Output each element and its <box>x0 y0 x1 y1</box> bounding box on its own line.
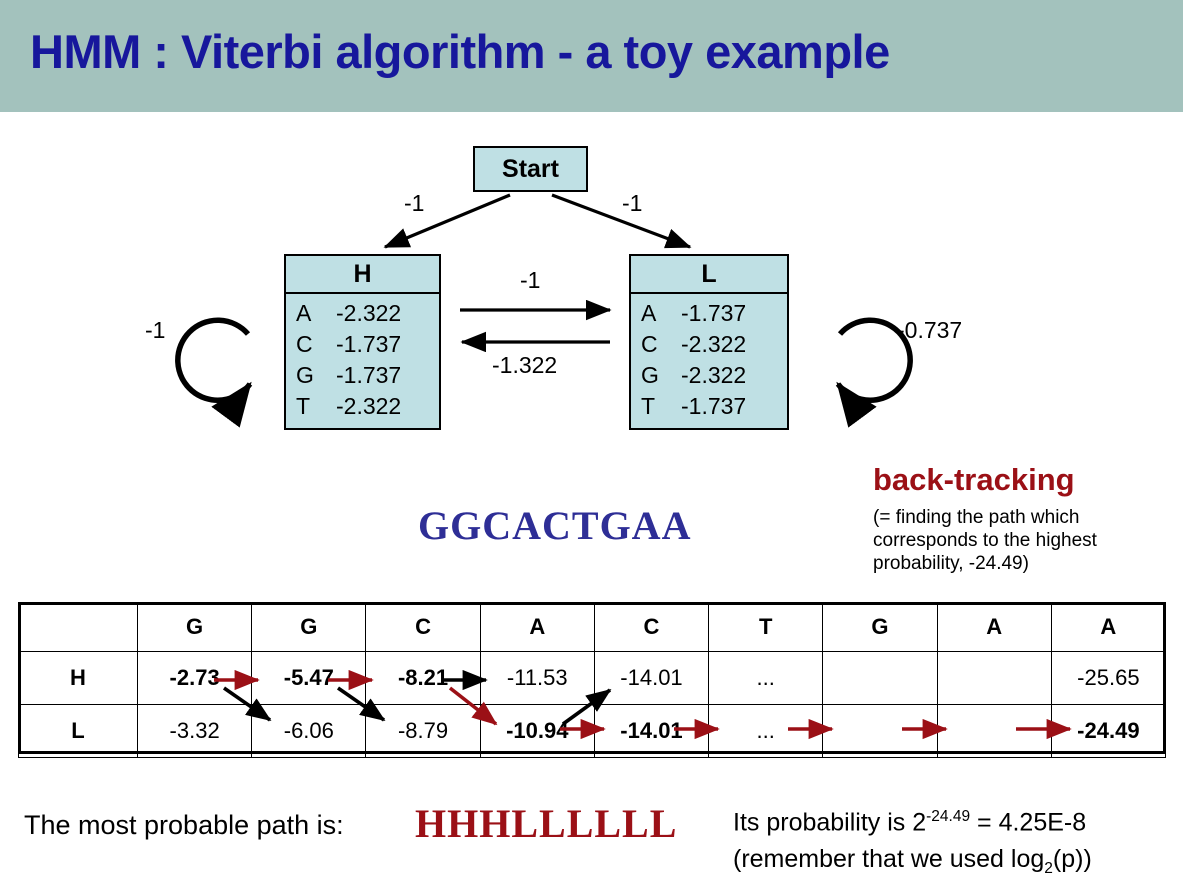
state-h-title: H <box>286 256 439 294</box>
header-banner: HMM : Viterbi algorithm - a toy example <box>0 0 1183 112</box>
column-header: C <box>366 603 480 652</box>
emission-row: G -2.322 <box>641 360 787 391</box>
emission-value: -1.737 <box>336 329 401 360</box>
cell-h-3: -8.21 <box>366 652 480 705</box>
emission-row: T -2.322 <box>296 391 439 422</box>
column-header: T <box>709 603 823 652</box>
emission-row: G -1.737 <box>296 360 439 391</box>
cell-h-4: -11.53 <box>480 652 594 705</box>
cell-h-8 <box>937 652 1051 705</box>
column-header: C <box>594 603 708 652</box>
cell-l-5: -14.01 <box>594 705 708 758</box>
most-probable-path-label: The most probable path is: <box>24 810 344 841</box>
column-header: A <box>480 603 594 652</box>
emission-symbol: G <box>641 360 681 391</box>
cell-l-4: -10.94 <box>480 705 594 758</box>
table-corner-cell <box>19 603 138 652</box>
table-row: L -3.32 -6.06 -8.79 -10.94 -14.01 ... -2… <box>19 705 1166 758</box>
log-note-suffix: (p)) <box>1053 845 1092 873</box>
table-header-row: G G C A C T G A A <box>19 603 1166 652</box>
cell-h-2: -5.47 <box>252 652 366 705</box>
state-node-l: L A -1.737 C -2.322 G -2.322 T -1.737 <box>629 254 789 430</box>
self-loop-label-l: -0.737 <box>897 317 962 344</box>
most-probable-path-value: HHHLLLLLL <box>415 800 677 847</box>
emission-value: -1.737 <box>681 391 746 422</box>
row-label-l: L <box>19 705 138 758</box>
cell-l-7 <box>823 705 937 758</box>
state-h-emissions: A -2.322 C -1.737 G -1.737 T -2.322 <box>286 294 439 422</box>
probability-exponent: -24.49 <box>926 808 970 825</box>
transition-label-l-to-h: -1.322 <box>492 352 557 379</box>
emission-value: -2.322 <box>336 298 401 329</box>
start-node: Start <box>473 146 588 192</box>
emission-value: -1.737 <box>681 298 746 329</box>
page-title: HMM : Viterbi algorithm - a toy example <box>30 24 890 79</box>
cell-h-1: -2.73 <box>138 652 252 705</box>
state-node-h: H A -2.322 C -1.737 G -1.737 T -2.322 <box>284 254 441 430</box>
emission-row: T -1.737 <box>641 391 787 422</box>
diagram-arrows <box>0 112 1183 452</box>
emission-symbol: C <box>641 329 681 360</box>
emission-symbol: G <box>296 360 336 391</box>
cell-l-8 <box>937 705 1051 758</box>
transition-label-start-to-h: -1 <box>404 190 424 217</box>
emission-symbol: A <box>296 298 336 329</box>
column-header: G <box>252 603 366 652</box>
column-header: A <box>1051 603 1165 652</box>
emission-value: -2.322 <box>336 391 401 422</box>
probability-line-1: Its probability is 2-24.49 = 4.25E-8 <box>733 808 1086 837</box>
cell-l-1: -3.32 <box>138 705 252 758</box>
emission-value: -1.737 <box>336 360 401 391</box>
start-node-label: Start <box>475 148 586 190</box>
probability-suffix: = 4.25E-8 <box>970 808 1086 836</box>
column-header: G <box>823 603 937 652</box>
backtracking-title: back-tracking <box>873 462 1075 498</box>
state-l-title: L <box>631 256 787 294</box>
emission-row: A -2.322 <box>296 298 439 329</box>
log-note-prefix: (remember that we used log <box>733 845 1044 873</box>
backtracking-note: (= finding the path which corresponds to… <box>873 506 1163 575</box>
cell-l-9: -24.49 <box>1051 705 1165 758</box>
cell-l-3: -8.79 <box>366 705 480 758</box>
emission-row: A -1.737 <box>641 298 787 329</box>
log-base: 2 <box>1044 860 1053 877</box>
emission-symbol: T <box>296 391 336 422</box>
emission-value: -2.322 <box>681 360 746 391</box>
emission-symbol: C <box>296 329 336 360</box>
cell-h-6: ... <box>709 652 823 705</box>
emission-symbol: T <box>641 391 681 422</box>
cell-l-6: ... <box>709 705 823 758</box>
transition-label-h-to-l: -1 <box>520 267 540 294</box>
self-loop-label-h: -1 <box>145 317 165 344</box>
hmm-state-diagram: Start H A -2.322 C -1.737 G -1.737 T -2.… <box>0 112 1183 452</box>
state-l-emissions: A -1.737 C -2.322 G -2.322 T -1.737 <box>631 294 787 422</box>
viterbi-table: G G C A C T G A A H -2.73 -5.47 -8.21 -1… <box>18 602 1166 758</box>
emission-row: C -1.737 <box>296 329 439 360</box>
cell-h-9: -25.65 <box>1051 652 1165 705</box>
emission-value: -2.322 <box>681 329 746 360</box>
emission-row: C -2.322 <box>641 329 787 360</box>
table-row: H -2.73 -5.47 -8.21 -11.53 -14.01 ... -2… <box>19 652 1166 705</box>
column-header: A <box>937 603 1051 652</box>
observation-sequence: GGCACTGAA <box>418 502 691 549</box>
row-label-h: H <box>19 652 138 705</box>
probability-prefix: Its probability is 2 <box>733 808 926 836</box>
cell-h-5: -14.01 <box>594 652 708 705</box>
cell-h-7 <box>823 652 937 705</box>
transition-label-start-to-l: -1 <box>622 190 642 217</box>
probability-line-2: (remember that we used log2(p)) <box>733 845 1092 878</box>
cell-l-2: -6.06 <box>252 705 366 758</box>
emission-symbol: A <box>641 298 681 329</box>
column-header: G <box>138 603 252 652</box>
viterbi-table-wrapper: G G C A C T G A A H -2.73 -5.47 -8.21 -1… <box>18 602 1166 754</box>
